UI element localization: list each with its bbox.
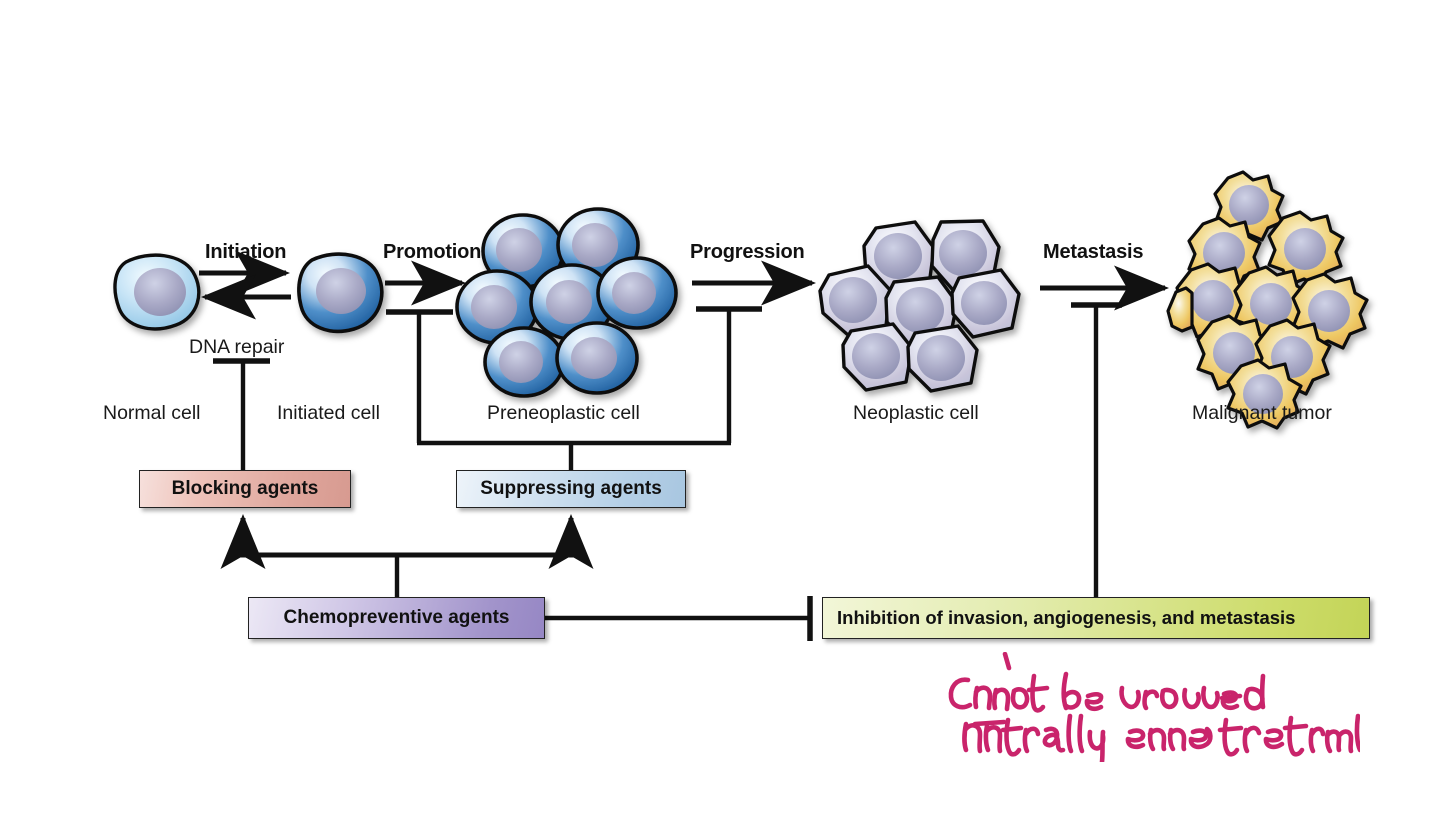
preneoplastic-cluster-graphic — [457, 209, 676, 396]
dna-repair-inhibitor — [213, 361, 270, 470]
initiated-cell-graphic — [299, 254, 382, 331]
chemopreventive-branches — [240, 518, 574, 597]
dna-repair-label: DNA repair — [189, 336, 284, 359]
cell-label-preneoplastic: Preneoplastic cell — [487, 402, 640, 425]
cell-label-initiated: Initiated cell — [277, 402, 380, 425]
stage-label-metastasis: Metastasis — [1043, 241, 1143, 264]
diagram-canvas: Initiation Promotion Progression Metasta… — [0, 0, 1446, 830]
cell-label-malignant: Malignant tumor — [1192, 402, 1332, 425]
normal-cell-graphic — [115, 255, 199, 329]
inhibition-box[interactable]: Inhibition of invasion, angiogenesis, an… — [822, 597, 1370, 639]
stage-label-initiation: Initiation — [205, 241, 286, 264]
stage-label-progression: Progression — [690, 241, 805, 264]
chemopreventive-agents-box[interactable]: Chemopreventive agents — [248, 597, 545, 639]
progression-arrow — [692, 283, 812, 443]
cell-label-neoplastic: Neoplastic cell — [853, 402, 979, 425]
cell-label-normal: Normal cell — [103, 402, 201, 425]
stage-label-promotion: Promotion — [383, 241, 481, 264]
suppressing-agents-box[interactable]: Suppressing agents — [456, 470, 686, 508]
metastasis-arrow — [1040, 288, 1165, 597]
promotion-arrow — [385, 283, 462, 443]
malignant-tumor-graphic — [1168, 172, 1367, 428]
handwritten-note — [930, 652, 1360, 762]
chemo-to-inhibition-connector — [545, 596, 810, 641]
initiation-arrow — [199, 273, 291, 297]
suppressing-bracket — [417, 443, 731, 470]
blocking-agents-box[interactable]: Blocking agents — [139, 470, 351, 508]
neoplastic-cluster-graphic — [820, 221, 1019, 391]
